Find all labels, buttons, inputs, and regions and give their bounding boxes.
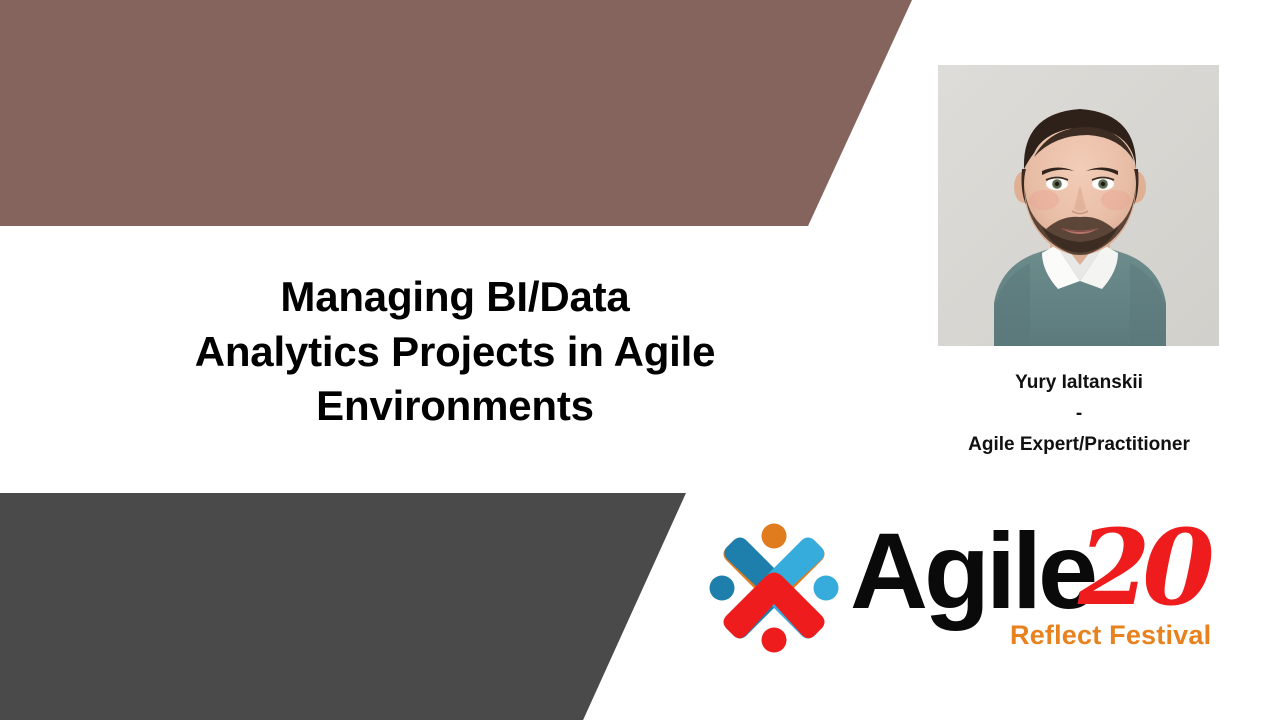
top-brown-banner-shape (0, 0, 912, 226)
page-title: Managing BI/Data Analytics Projects in A… (90, 270, 820, 434)
agile20-wordmark: Agile 20 Reflect Festival (850, 508, 1245, 660)
speaker-portrait-image (938, 65, 1219, 346)
title-line-3: Environments (316, 382, 594, 429)
title-line-2: Analytics Projects in Agile (195, 328, 716, 375)
agile-people-pinwheel-icon (700, 514, 848, 662)
speaker-role: Agile Expert/Practitioner (912, 430, 1246, 461)
slide-canvas: Managing BI/Data Analytics Projects in A… (0, 0, 1280, 720)
agile20-logo: Agile 20 Reflect Festival (700, 508, 1245, 660)
bottom-gray-banner-shape (0, 493, 686, 720)
logo-tagline-text: Reflect Festival (1010, 620, 1211, 650)
speaker-name: Yury Ialtanskii (912, 368, 1246, 399)
speaker-caption: Yury Ialtanskii - Agile Expert/Practitio… (912, 368, 1246, 460)
speaker-separator: - (912, 399, 1246, 430)
logo-year-text: 20 (1077, 508, 1214, 629)
title-line-1: Managing BI/Data (280, 273, 629, 320)
speaker-photo (938, 65, 1219, 346)
logo-agile-text: Agile (850, 510, 1095, 631)
